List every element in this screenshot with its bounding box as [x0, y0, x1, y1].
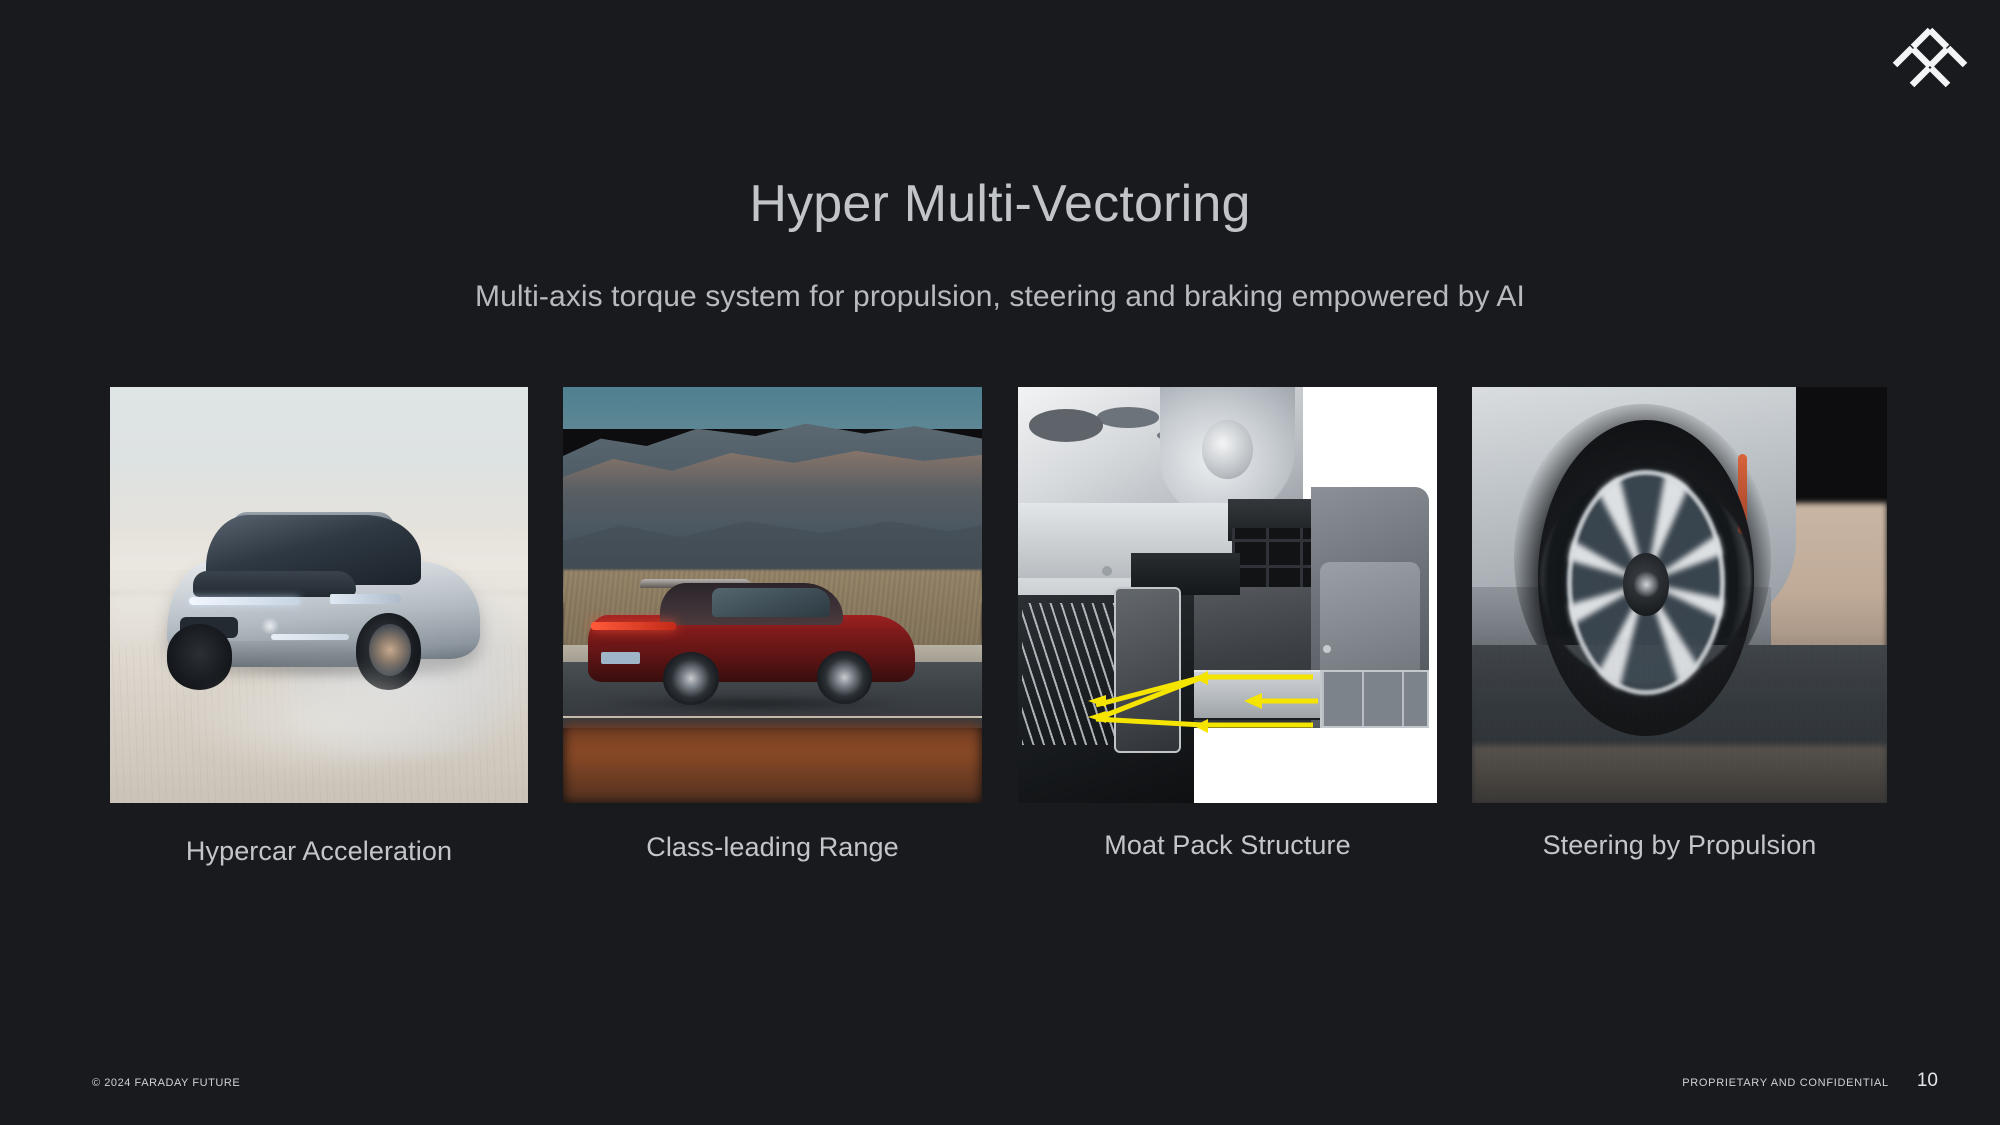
- caption-hypercar-acceleration: Hypercar Acceleration: [110, 836, 528, 867]
- steering-by-propulsion-photo: [1472, 387, 1887, 803]
- faraday-future-logo: [1882, 16, 1978, 104]
- slide-subtitle: Multi-axis torque system for propulsion,…: [0, 280, 2000, 314]
- caption-moat-pack-structure: Moat Pack Structure: [1018, 830, 1437, 861]
- caption-row: Hypercar Acceleration Class-leading Rang…: [110, 832, 1887, 878]
- panel-class-leading-range[interactable]: [563, 387, 982, 803]
- slide-title: Hyper Multi-Vectoring: [0, 178, 2000, 230]
- panel-hypercar-acceleration[interactable]: [110, 387, 528, 803]
- hypercar-acceleration-photo: [110, 387, 528, 803]
- panel-moat-pack-structure[interactable]: [1018, 387, 1437, 803]
- footer-right-group: PROPRIETARY AND CONFIDENTIAL 10: [1682, 1070, 1938, 1092]
- class-leading-range-photo: [563, 387, 982, 803]
- panel-steering-by-propulsion[interactable]: [1472, 387, 1887, 803]
- footer-copyright: © 2024 FARADAY FUTURE: [92, 1077, 240, 1089]
- caption-steering-by-propulsion: Steering by Propulsion: [1472, 830, 1887, 861]
- slide-page-number: 10: [1917, 1070, 1938, 1092]
- moat-pack-structure-diagram: [1018, 387, 1437, 803]
- slide-root: Hyper Multi-Vectoring Multi-axis torque …: [0, 0, 2000, 1125]
- load-path-arrows-icon: [1018, 387, 1437, 803]
- caption-class-leading-range: Class-leading Range: [563, 832, 982, 863]
- footer-confidentiality-notice: PROPRIETARY AND CONFIDENTIAL: [1682, 1077, 1889, 1089]
- panel-row: [110, 387, 1887, 803]
